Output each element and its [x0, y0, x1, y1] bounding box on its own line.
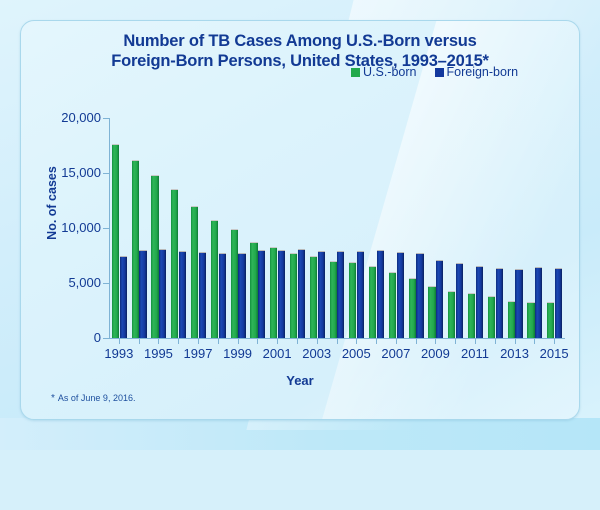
x-axis-tick-label: 2001 — [255, 346, 299, 361]
bar-u-s-born-2000 — [250, 242, 257, 338]
bar-foreign-born-2011 — [476, 266, 483, 339]
x-axis-tick-label: 2015 — [532, 346, 576, 361]
y-axis-tick-label: 0 — [39, 330, 101, 345]
x-axis-tick — [534, 339, 535, 344]
bar-foreign-born-2005 — [357, 251, 364, 338]
x-axis-tick — [396, 339, 397, 344]
bar-foreign-born-1998 — [219, 253, 226, 338]
x-axis-tick — [337, 339, 338, 344]
x-axis-tick-label: 2009 — [413, 346, 457, 361]
x-axis-tick — [554, 339, 555, 344]
x-axis-tick-label: 1997 — [176, 346, 220, 361]
bar-foreign-born-2008 — [416, 253, 423, 338]
x-axis-tick — [515, 339, 516, 344]
plot-area — [109, 118, 564, 338]
bar-foreign-born-1994 — [139, 250, 146, 338]
x-axis-tick — [119, 339, 120, 344]
x-axis-tick-label: 2003 — [295, 346, 339, 361]
x-axis-tick-label: 1993 — [97, 346, 141, 361]
chart-legend: U.S.-bornForeign-born — [351, 65, 536, 79]
x-axis-tick-label: 1999 — [216, 346, 260, 361]
bar-u-s-born-2009 — [428, 286, 435, 338]
x-axis-title: Year — [21, 373, 579, 388]
footnote-marker: * — [51, 393, 55, 404]
legend-swatch-icon — [351, 68, 360, 77]
x-axis-tick — [178, 339, 179, 344]
bar-foreign-born-1997 — [199, 252, 206, 338]
x-axis-tick-label: 1995 — [136, 346, 180, 361]
page-background-band — [0, 418, 600, 450]
x-axis-tick — [198, 339, 199, 344]
bar-foreign-born-2010 — [456, 263, 463, 338]
x-axis-tick — [475, 339, 476, 344]
x-axis-tick — [376, 339, 377, 344]
bar-u-s-born-2001 — [270, 247, 277, 338]
bar-u-s-born-1995 — [151, 175, 158, 338]
bar-foreign-born-2003 — [318, 251, 325, 338]
bar-foreign-born-1995 — [159, 249, 166, 338]
bar-foreign-born-2000 — [258, 250, 265, 338]
bar-foreign-born-2012 — [496, 268, 503, 338]
legend-label: U.S.-born — [363, 65, 417, 79]
x-axis-tick — [139, 339, 140, 344]
bar-u-s-born-2005 — [349, 262, 356, 338]
bar-u-s-born-2012 — [488, 296, 495, 338]
x-axis-tick — [435, 339, 436, 344]
x-axis-tick — [495, 339, 496, 344]
legend-item-us-born: U.S.-born — [351, 65, 417, 79]
bar-foreign-born-2013 — [515, 269, 522, 338]
bar-foreign-born-2014 — [535, 267, 542, 338]
bar-foreign-born-1999 — [238, 253, 245, 338]
bar-u-s-born-2014 — [527, 302, 534, 338]
x-axis-tick — [455, 339, 456, 344]
legend-item-foreign-born: Foreign-born — [435, 65, 519, 79]
bar-u-s-born-2002 — [290, 253, 297, 338]
bar-u-s-born-1999 — [231, 229, 238, 338]
bar-foreign-born-2009 — [436, 260, 443, 338]
bar-u-s-born-2003 — [310, 256, 317, 338]
bar-u-s-born-2013 — [508, 301, 515, 338]
bar-foreign-born-2015 — [555, 268, 562, 338]
x-axis-tick — [356, 339, 357, 344]
x-axis-tick — [297, 339, 298, 344]
bar-u-s-born-1994 — [132, 160, 139, 338]
bar-foreign-born-2001 — [278, 250, 285, 338]
bar-foreign-born-2004 — [337, 251, 344, 338]
bar-u-s-born-2007 — [389, 272, 396, 338]
bar-foreign-born-2007 — [397, 252, 404, 338]
legend-swatch-icon — [435, 68, 444, 77]
bar-foreign-born-1996 — [179, 251, 186, 338]
x-axis-tick — [238, 339, 239, 344]
x-axis-tick — [317, 339, 318, 344]
footnote: *As of June 9, 2016. — [51, 393, 135, 404]
x-axis-tick-label: 2005 — [334, 346, 378, 361]
x-axis-tick-label: 2011 — [453, 346, 497, 361]
legend-label: Foreign-born — [447, 65, 519, 79]
x-axis-tick-label: 2013 — [493, 346, 537, 361]
x-axis-tick — [158, 339, 159, 344]
x-axis-tick — [218, 339, 219, 344]
bar-u-s-born-2015 — [547, 302, 554, 338]
chart-title-line-1: Number of TB Cases Among U.S.-Born versu… — [21, 31, 579, 51]
bar-u-s-born-1997 — [191, 206, 198, 338]
y-axis-labels: 05,00010,00015,00020,000 — [29, 21, 101, 419]
bar-u-s-born-2011 — [468, 293, 475, 338]
bar-foreign-born-2006 — [377, 250, 384, 338]
bar-u-s-born-2004 — [330, 261, 337, 338]
chart-card: Number of TB Cases Among U.S.-Born versu… — [20, 20, 580, 420]
y-axis-tick-label: 15,000 — [39, 165, 101, 180]
bar-u-s-born-1996 — [171, 189, 178, 339]
x-axis-tick-label: 2007 — [374, 346, 418, 361]
bar-u-s-born-1998 — [211, 220, 218, 338]
y-axis-tick-label: 10,000 — [39, 220, 101, 235]
bar-u-s-born-2008 — [409, 278, 416, 338]
footnote-text: As of June 9, 2016. — [58, 393, 136, 403]
bar-foreign-born-1993 — [120, 256, 127, 338]
x-axis-tick — [277, 339, 278, 344]
page-background-lower — [0, 450, 600, 510]
bar-u-s-born-2010 — [448, 291, 455, 338]
y-axis-tick-label: 5,000 — [39, 275, 101, 290]
x-axis-tick — [257, 339, 258, 344]
bar-u-s-born-1993 — [112, 144, 119, 338]
x-axis-tick — [416, 339, 417, 344]
y-axis-tick-label: 20,000 — [39, 110, 101, 125]
bar-u-s-born-2006 — [369, 266, 376, 339]
bar-foreign-born-2002 — [298, 249, 305, 338]
